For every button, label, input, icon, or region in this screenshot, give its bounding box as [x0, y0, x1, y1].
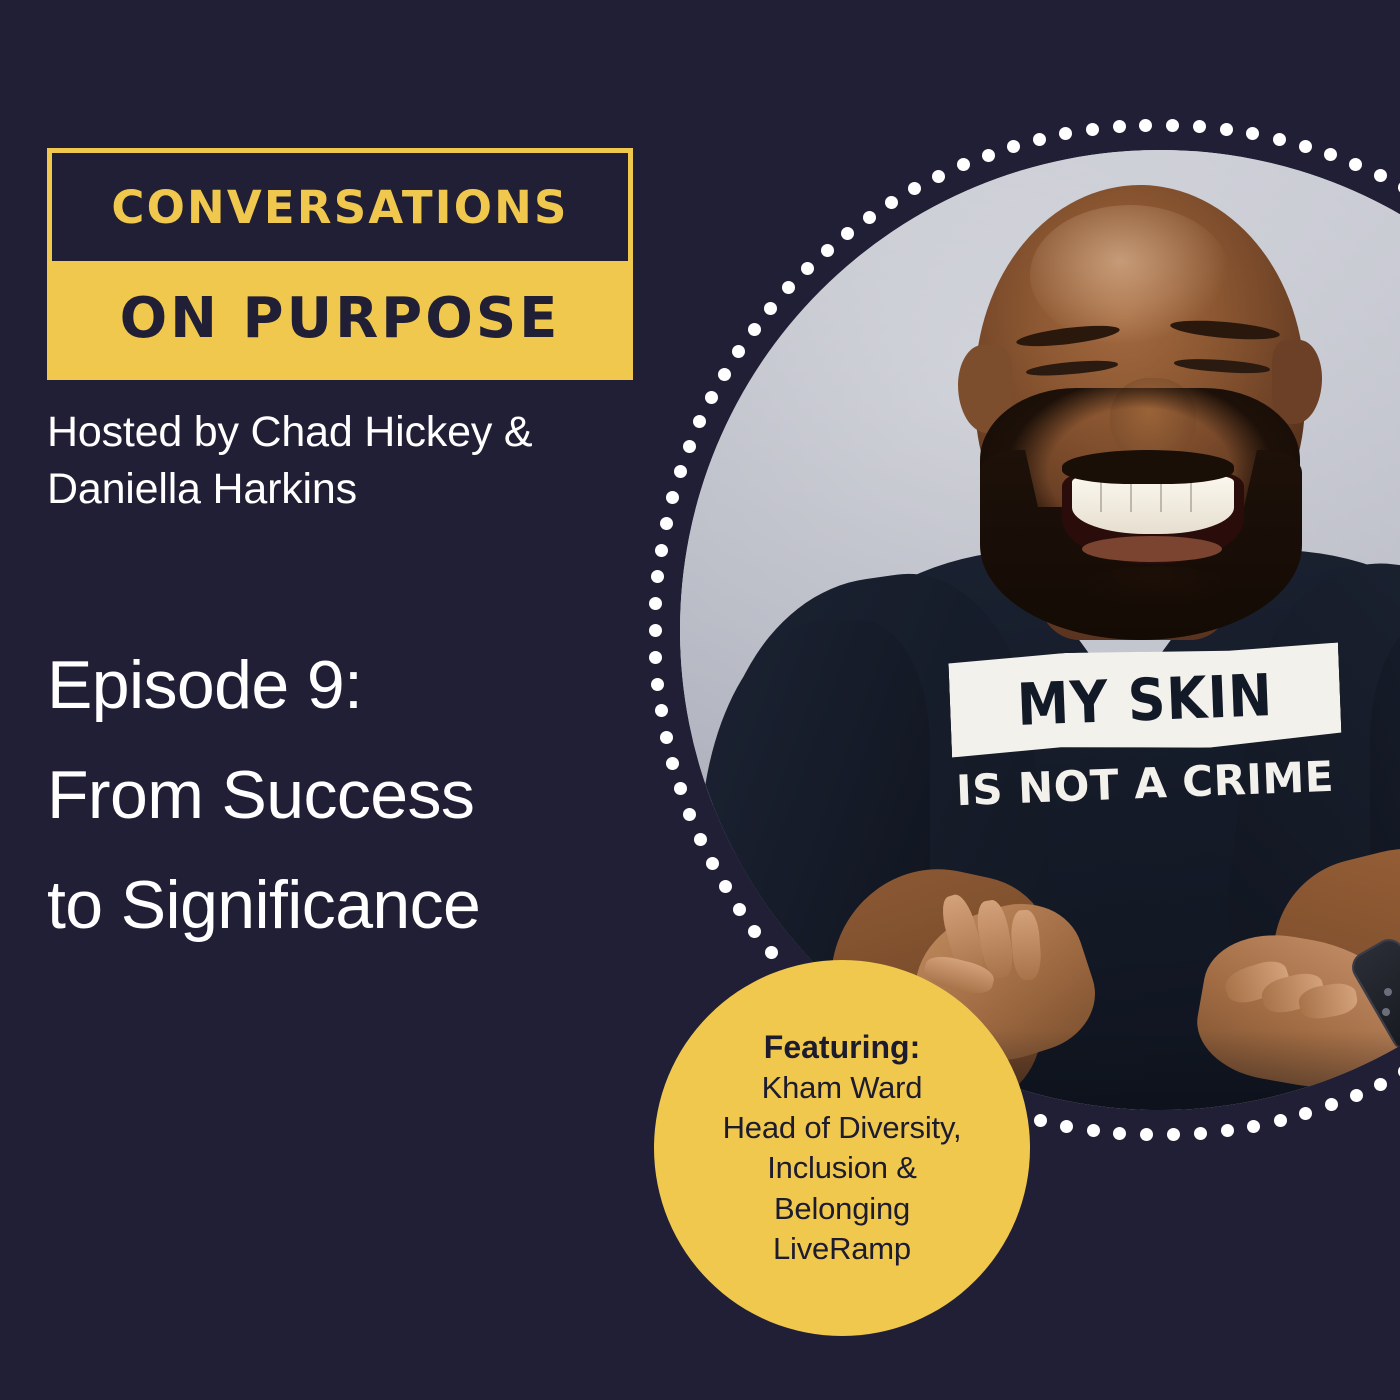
- guest-portrait-photo: MY SKIN IS NOT A CRIME: [680, 150, 1400, 1110]
- logo-line-1-box: CONVERSATIONS: [52, 153, 628, 261]
- featuring-role-line-1: Head of Diversity,: [723, 1108, 962, 1148]
- arc-dot: [1193, 120, 1206, 133]
- featuring-guest-name: Kham Ward: [762, 1068, 923, 1108]
- hosts-credit: Hosted by Chad Hickey & Daniella Harkins: [47, 404, 647, 518]
- logo-line-2-box: ON PURPOSE: [52, 261, 628, 375]
- episode-title-line-2: to Significance: [47, 850, 667, 960]
- arc-dot: [1033, 133, 1046, 146]
- arc-dot: [1194, 1127, 1207, 1140]
- show-logo: CONVERSATIONS ON PURPOSE: [47, 148, 633, 380]
- podcast-cover-art: MY SKIN IS NOT A CRIME CONVERSATIONS ON …: [0, 0, 1400, 1400]
- arc-dot: [1113, 120, 1126, 133]
- subject-lower-lip: [1082, 536, 1222, 562]
- arc-dot: [1166, 119, 1179, 132]
- arc-dot: [651, 570, 664, 583]
- arc-dot: [660, 517, 673, 530]
- featuring-role-line-2: Inclusion &: [767, 1148, 916, 1188]
- episode-number-line: Episode 9:: [47, 630, 667, 740]
- chin-shadow: [1080, 566, 1230, 610]
- arc-dot: [1167, 1128, 1180, 1141]
- arc-dot: [1221, 1124, 1234, 1137]
- arc-dot: [1220, 123, 1233, 136]
- arc-dot: [1274, 1114, 1287, 1127]
- featuring-label: Featuring:: [764, 1027, 920, 1068]
- logo-line-1-text: CONVERSATIONS: [111, 181, 568, 234]
- logo-line-2-text: ON PURPOSE: [120, 286, 561, 351]
- hosts-line-2: Daniella Harkins: [47, 461, 647, 518]
- wristwatch-detail: [1382, 1008, 1390, 1016]
- arc-dot: [1246, 127, 1259, 140]
- arc-dot: [1060, 1120, 1073, 1133]
- tooth-divider: [1100, 478, 1102, 512]
- arc-dot: [1034, 1114, 1047, 1127]
- tooth-divider: [1190, 478, 1192, 512]
- arc-dot: [655, 544, 668, 557]
- episode-title-line-1: From Success: [47, 740, 667, 850]
- featuring-badge: Featuring: Kham Ward Head of Diversity, …: [654, 960, 1030, 1336]
- featuring-company: LiveRamp: [773, 1229, 911, 1269]
- arc-dot: [1247, 1120, 1260, 1133]
- arc-dot: [1139, 119, 1152, 132]
- wristwatch-detail: [1384, 988, 1392, 996]
- arc-dot: [1087, 1124, 1100, 1137]
- arc-dot: [666, 757, 679, 770]
- arc-dot: [1086, 123, 1099, 136]
- subject-mustache: [1062, 450, 1234, 484]
- arc-dot: [1273, 133, 1286, 146]
- arc-dot: [666, 491, 679, 504]
- subject-teeth: [1072, 476, 1234, 534]
- arc-dot: [1140, 1128, 1153, 1141]
- arc-dot: [649, 597, 662, 610]
- featuring-role-line-3: Belonging: [774, 1189, 910, 1229]
- episode-title: Episode 9: From Success to Significance: [47, 630, 667, 960]
- shirt-print-line-1: MY SKIN: [948, 647, 1341, 754]
- arc-dot: [1113, 1127, 1126, 1140]
- hosts-line-1: Hosted by Chad Hickey &: [47, 404, 647, 461]
- arc-dot: [1059, 127, 1072, 140]
